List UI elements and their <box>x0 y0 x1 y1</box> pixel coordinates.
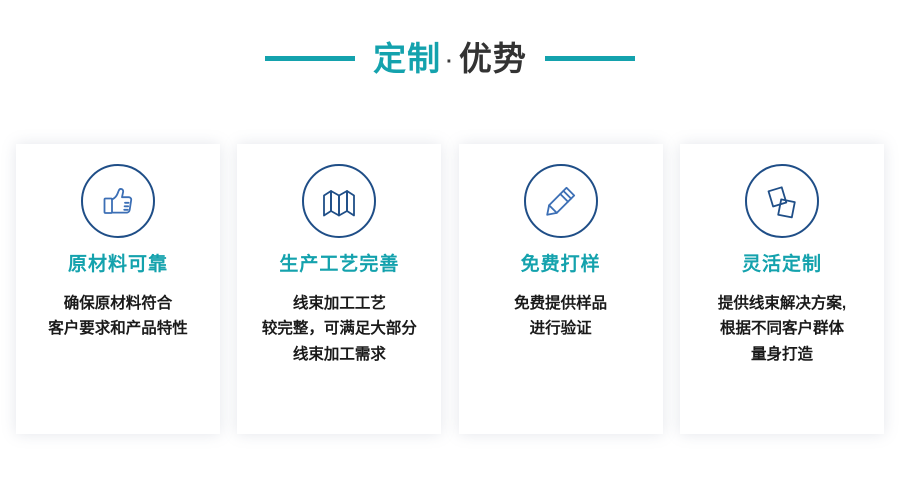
description-line: 提供线束解决方案, <box>718 291 846 317</box>
feature-card-title: 免费打样 <box>521 254 601 277</box>
feature-card-title: 灵活定制 <box>742 254 822 277</box>
page-title-main: 定制 <box>373 42 441 75</box>
folded-map-icon <box>302 164 376 238</box>
heading-rule-right <box>545 56 635 61</box>
description-line: 确保原材料符合 <box>48 291 188 317</box>
description-line: 线束加工需求 <box>262 342 417 368</box>
description-line: 免费提供样品 <box>514 291 607 317</box>
pencil-icon <box>524 164 598 238</box>
feature-card-list: 原材料可靠 确保原材料符合 客户要求和产品特性 生产工艺完善 线束加工工艺 较完… <box>16 144 884 434</box>
feature-card-description: 免费提供样品 进行验证 <box>506 291 615 342</box>
description-line: 进行验证 <box>514 316 607 342</box>
description-line: 客户要求和产品特性 <box>48 316 188 342</box>
feature-card[interactable]: 灵活定制 提供线束解决方案, 根据不同客户群体 量身打造 <box>680 144 884 434</box>
page-title: 定制 · 优势 <box>373 42 527 75</box>
description-line: 线束加工工艺 <box>262 291 417 317</box>
page-title-sub: 优势 <box>459 42 527 75</box>
feature-card-description: 线束加工工艺 较完整，可满足大部分 线束加工需求 <box>254 291 425 368</box>
heading-rule-left <box>265 56 355 61</box>
feature-card[interactable]: 免费打样 免费提供样品 进行验证 <box>459 144 663 434</box>
feature-card-description: 确保原材料符合 客户要求和产品特性 <box>40 291 196 342</box>
description-line: 较完整，可满足大部分 <box>262 316 417 342</box>
feature-card[interactable]: 生产工艺完善 线束加工工艺 较完整，可满足大部分 线束加工需求 <box>237 144 441 434</box>
feature-card-title: 原材料可靠 <box>68 254 168 277</box>
feature-card-title: 生产工艺完善 <box>279 254 399 277</box>
page-title-separator: · <box>441 52 459 72</box>
description-line: 根据不同客户群体 <box>718 316 846 342</box>
thumbs-up-icon <box>81 164 155 238</box>
feature-card[interactable]: 原材料可靠 确保原材料符合 客户要求和产品特性 <box>16 144 220 434</box>
description-line: 量身打造 <box>718 342 846 368</box>
section-heading: 定制 · 优势 <box>0 30 900 86</box>
advantages-section: 定制 · 优势 原材料可靠 确保原材料符合 客户要求和产品特性 <box>0 0 900 499</box>
stacked-cards-icon <box>745 164 819 238</box>
feature-card-description: 提供线束解决方案, 根据不同客户群体 量身打造 <box>710 291 854 368</box>
